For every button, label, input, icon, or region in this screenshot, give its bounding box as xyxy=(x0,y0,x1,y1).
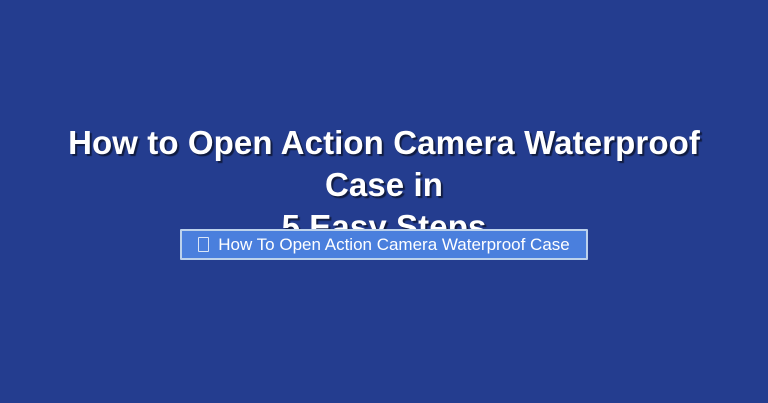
video-title-button[interactable]: How To Open Action Camera Waterproof Cas… xyxy=(180,229,588,260)
title-slide: How to Open Action Camera Waterproof Cas… xyxy=(0,0,768,403)
video-title-button-label: How To Open Action Camera Waterproof Cas… xyxy=(218,236,570,253)
missing-glyph-box-icon xyxy=(198,237,209,252)
cta-container: How To Open Action Camera Waterproof Cas… xyxy=(0,229,768,260)
